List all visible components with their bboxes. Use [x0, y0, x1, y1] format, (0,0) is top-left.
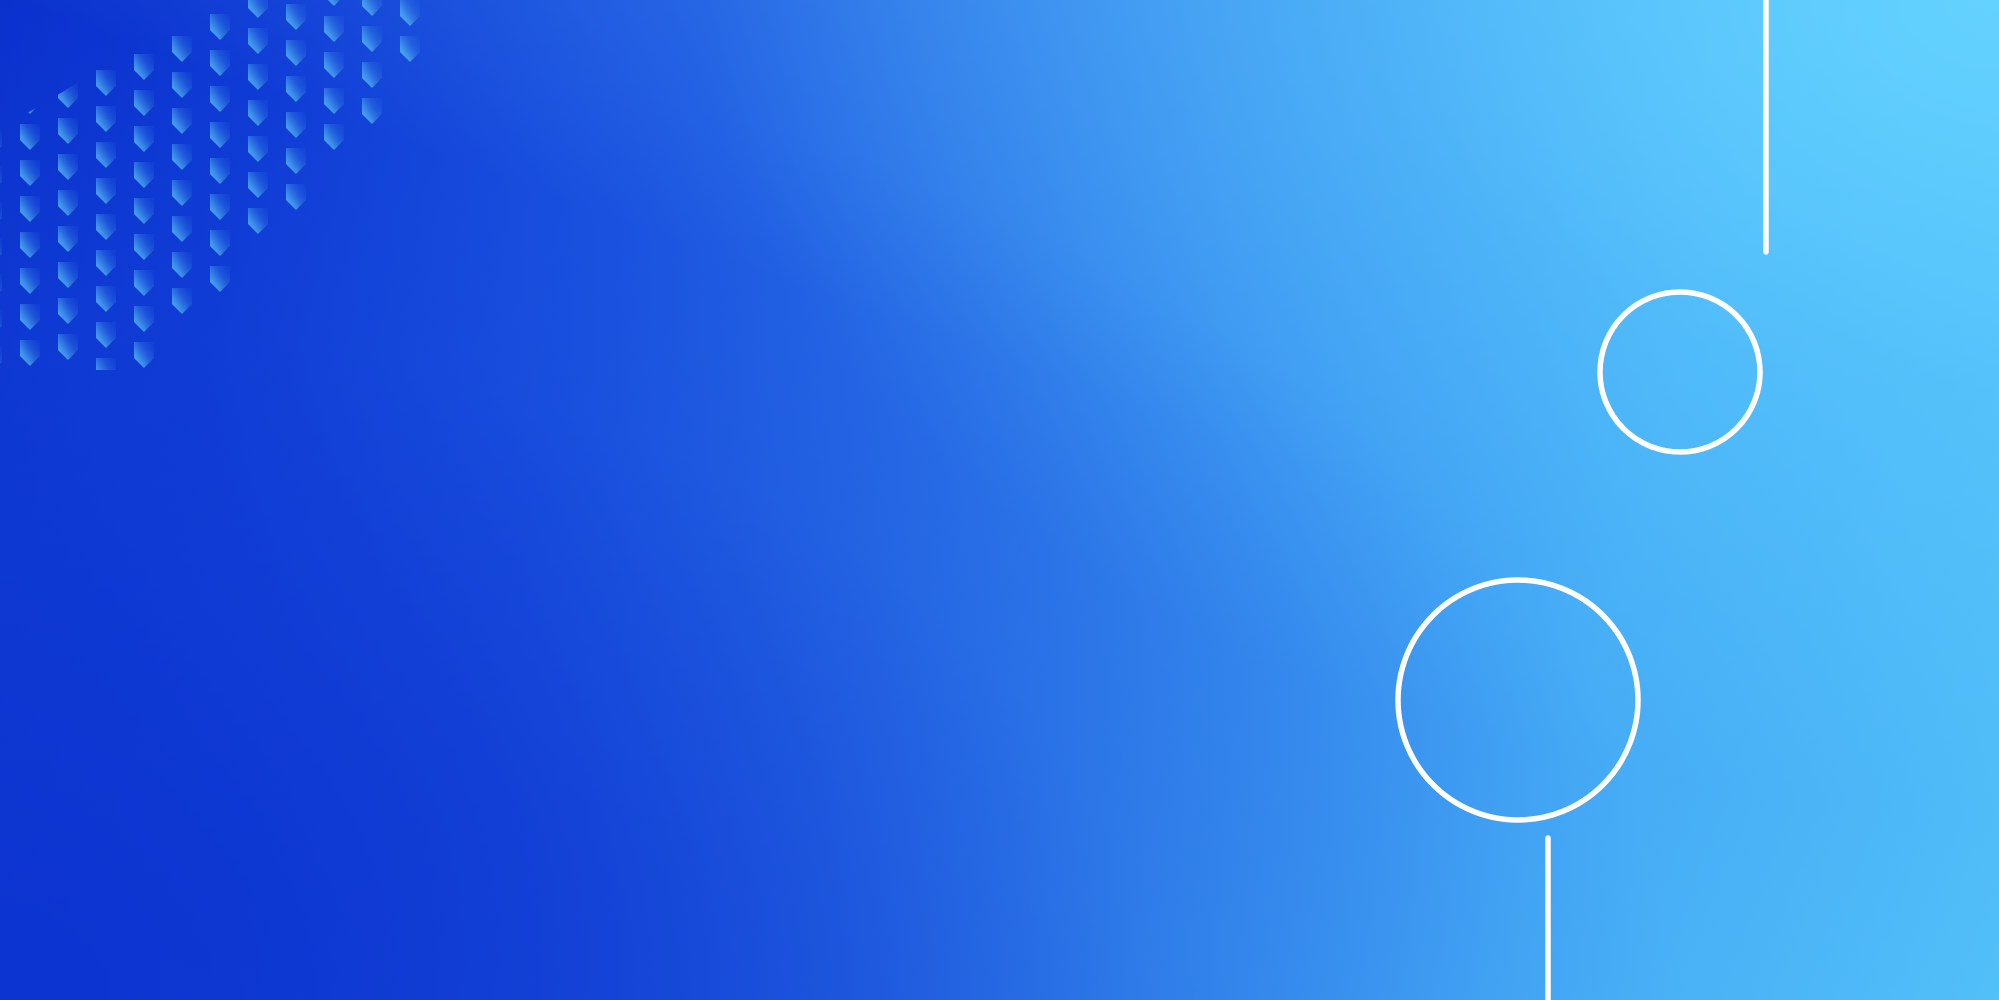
maintenance-page — [0, 0, 1999, 1000]
message-block — [186, 334, 1186, 378]
chevron-pattern-decoration — [0, 0, 452, 370]
